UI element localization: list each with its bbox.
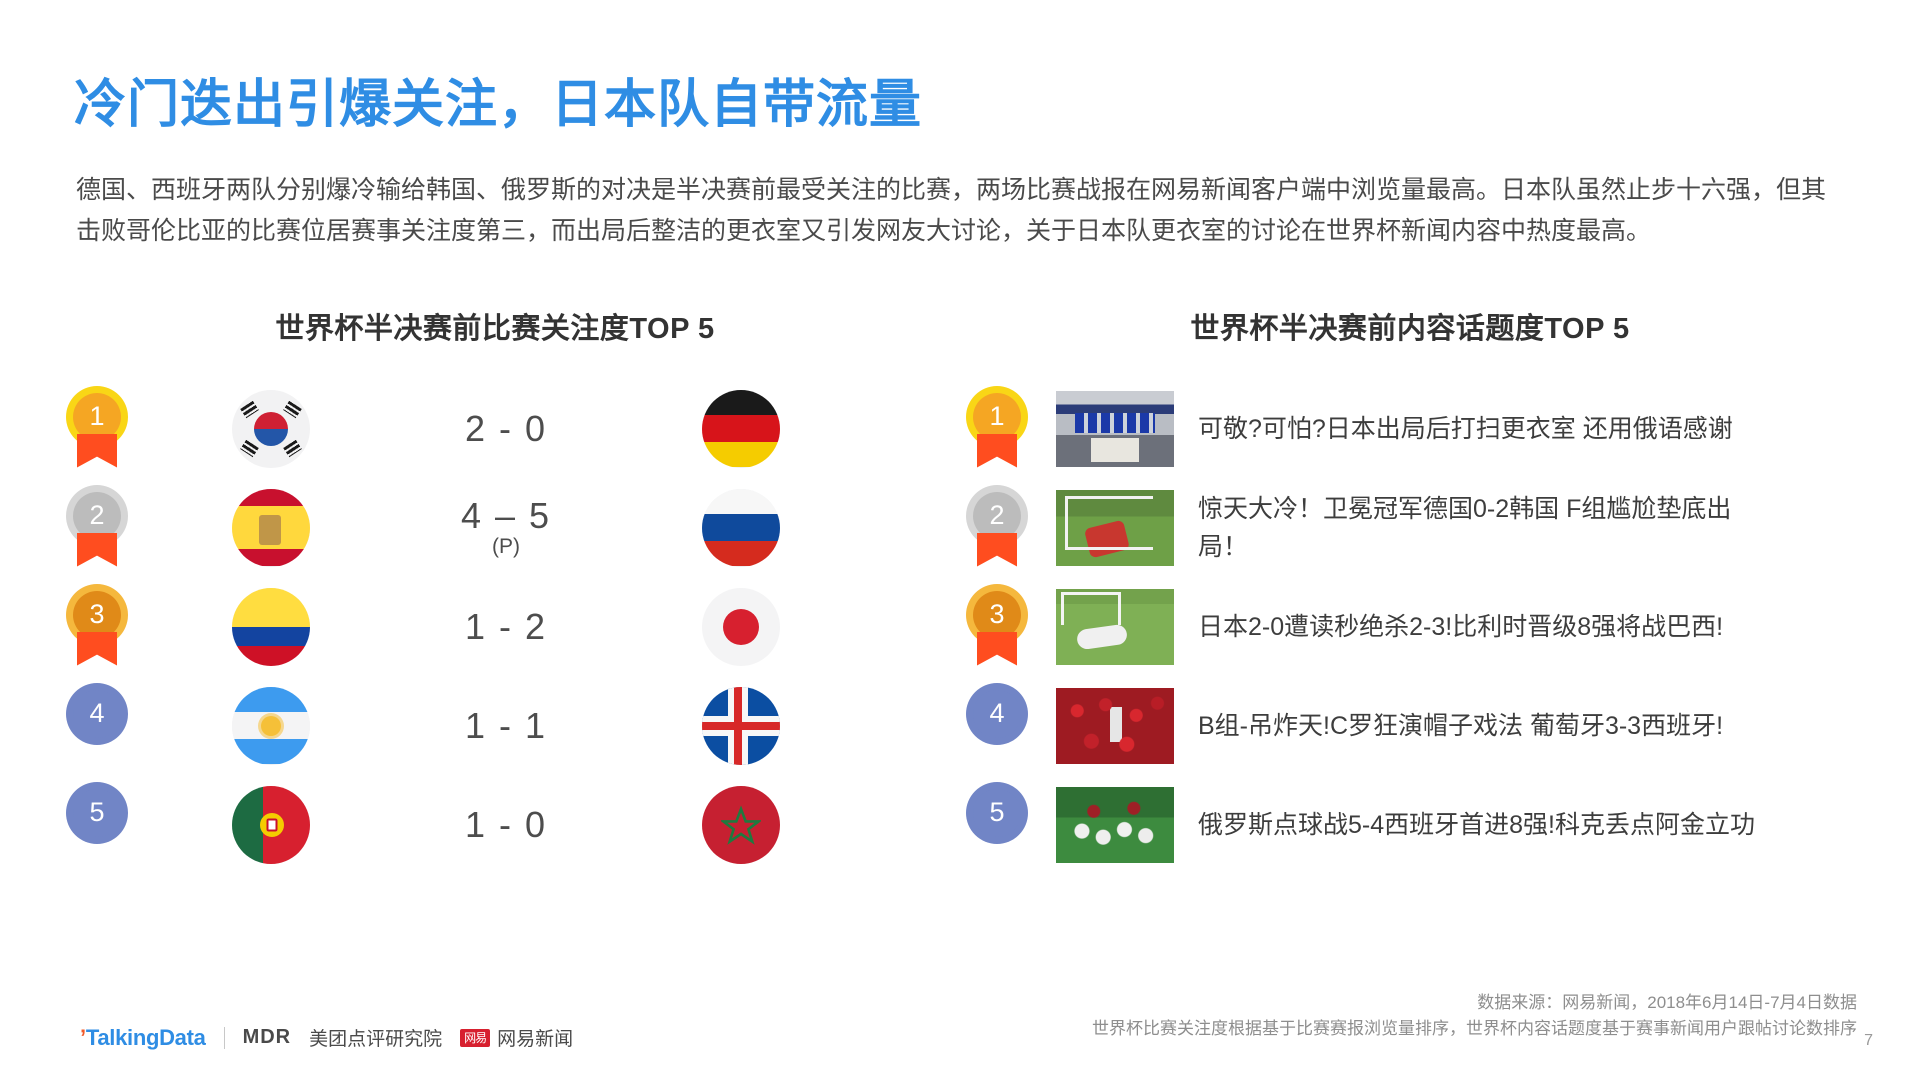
list-item[interactable]: 1 可敬?可怕?日本出局后打扫更衣室 还用俄语感谢 (960, 379, 1860, 478)
rank-number: 3 (73, 591, 121, 639)
ribbon-icon (77, 533, 117, 567)
match-row: 4 1 - 1 (60, 676, 930, 775)
slide-root: 冷门迭出引爆关注，日本队自带流量 德国、西班牙两队分别爆冷输给韩国、俄罗斯的对决… (0, 0, 1921, 1080)
rank-badge-4: 4 (960, 683, 1034, 769)
page-number: 7 (1864, 1032, 1873, 1050)
logo-mdr: MDR (243, 1026, 292, 1049)
list-item[interactable]: 2 惊天大冷！卫冕冠军德国0-2韩国 F组尴尬垫底出局！ (960, 478, 1860, 577)
netease-mark: 网易 (460, 1029, 490, 1047)
rank-circle-icon: 5 (966, 782, 1028, 844)
rank-badge-4: 4 (60, 683, 134, 769)
flag-argentina-icon (232, 687, 310, 765)
logo-netease-news: 网易 网易新闻 (460, 1024, 573, 1051)
news-thumbnail-russia-celebration (1056, 787, 1174, 863)
news-headline[interactable]: 惊天大冷！卫冕冠军德国0-2韩国 F组尴尬垫底出局！ (1198, 490, 1758, 566)
news-thumbnail-germany-korea (1056, 490, 1174, 566)
rank-badge-5: 5 (60, 782, 134, 868)
match-score: 1 - 2 (310, 608, 702, 646)
news-thumbnail-locker-room (1056, 391, 1174, 467)
flag-russia-icon (702, 489, 780, 567)
match-score: 1 - 0 (310, 806, 702, 844)
match-attention-panel: 世界杯半决赛前比赛关注度TOP 5 1 2 - 0 (60, 305, 930, 874)
logo-meituan-research: 美团点评研究院 (309, 1024, 442, 1051)
flag-germany-icon (702, 390, 780, 468)
rank-badge-1: 1 (60, 386, 134, 472)
source-line-2: 世界杯比赛关注度根据基于比赛赛报浏览量排序，世界杯内容话题度基于赛事新闻用户跟帖… (1092, 1016, 1857, 1042)
left-panel-title: 世界杯半决赛前比赛关注度TOP 5 (60, 305, 930, 347)
rank-circle-icon: 4 (966, 683, 1028, 745)
flag-morocco-icon (702, 786, 780, 864)
rank-circle-icon: 4 (66, 683, 128, 745)
news-thumbnail-japan-belgium (1056, 589, 1174, 665)
news-headline[interactable]: B组-吊炸天!C罗狂演帽子戏法 葡萄牙3-3西班牙! (1198, 707, 1723, 745)
page-description: 德国、西班牙两队分别爆冷输给韩国、俄罗斯的对决是半决赛前最受关注的比赛，两场比赛… (76, 170, 1836, 252)
ribbon-icon (977, 434, 1017, 468)
flag-iceland-icon (702, 687, 780, 765)
source-line-1: 数据来源：网易新闻，2018年6月14日-7月4日数据 (1092, 990, 1857, 1016)
rank-number: 1 (73, 393, 121, 441)
list-item[interactable]: 5 俄罗斯点球战5-4西班牙首进8强!科克丢点阿金立功 (960, 775, 1860, 874)
list-item[interactable]: 3 日本2-0遭读秒绝杀2-3!比利时晋级8强将战巴西! (960, 577, 1860, 676)
match-score: 2 - 0 (310, 410, 702, 448)
news-headline[interactable]: 可敬?可怕?日本出局后打扫更衣室 还用俄语感谢 (1198, 410, 1733, 448)
rank-number: 2 (973, 492, 1021, 540)
flag-colombia-icon (232, 588, 310, 666)
right-panel-title: 世界杯半决赛前内容话题度TOP 5 (960, 305, 1860, 347)
brand-bar: ’TalkingData MDR 美团点评研究院 网易 网易新闻 (80, 1024, 573, 1051)
ribbon-icon (77, 632, 117, 666)
ribbon-icon (77, 434, 117, 468)
rank-badge-1: 1 (960, 386, 1034, 472)
flag-south-korea-icon (232, 390, 310, 468)
flag-spain-icon (232, 489, 310, 567)
match-row: 2 4 – 5 (P) (60, 478, 930, 577)
match-score: 4 – 5 (P) (310, 497, 702, 559)
logo-talkingdata: ’TalkingData (80, 1025, 206, 1051)
rank-number: 3 (973, 591, 1021, 639)
rank-circle-icon: 5 (66, 782, 128, 844)
rank-number: 1 (973, 393, 1021, 441)
rank-badge-2: 2 (960, 485, 1034, 571)
rank-badge-3: 3 (60, 584, 134, 670)
list-item[interactable]: 4 B组-吊炸天!C罗狂演帽子戏法 葡萄牙3-3西班牙! (960, 676, 1860, 775)
divider (224, 1027, 225, 1049)
news-headline[interactable]: 俄罗斯点球战5-4西班牙首进8强!科克丢点阿金立功 (1198, 806, 1755, 844)
match-row: 1 2 - 0 (60, 379, 930, 478)
content-topic-panel: 世界杯半决赛前内容话题度TOP 5 1 可敬?可怕?日本出局后打扫更衣室 还用俄… (960, 305, 1860, 874)
match-row: 3 1 - 2 (60, 577, 930, 676)
rank-badge-3: 3 (960, 584, 1034, 670)
ribbon-icon (977, 632, 1017, 666)
match-row: 5 1 - 0 (60, 775, 930, 874)
rank-number: 5 (73, 789, 121, 837)
flag-portugal-icon (232, 786, 310, 864)
source-note: 数据来源：网易新闻，2018年6月14日-7月4日数据 世界杯比赛关注度根据基于… (1092, 990, 1857, 1042)
match-score: 1 - 1 (310, 707, 702, 745)
page-title: 冷门迭出引爆关注，日本队自带流量 (74, 62, 922, 137)
rank-number: 2 (73, 492, 121, 540)
rank-number: 4 (73, 690, 121, 738)
rank-number: 4 (973, 690, 1021, 738)
flag-japan-icon (702, 588, 780, 666)
rank-number: 5 (973, 789, 1021, 837)
penalty-note: (P) (310, 536, 702, 558)
news-headline[interactable]: 日本2-0遭读秒绝杀2-3!比利时晋级8强将战巴西! (1198, 608, 1723, 646)
rank-badge-2: 2 (60, 485, 134, 571)
rank-badge-5: 5 (960, 782, 1034, 868)
ribbon-icon (977, 533, 1017, 567)
news-thumbnail-spain-fans (1056, 688, 1174, 764)
